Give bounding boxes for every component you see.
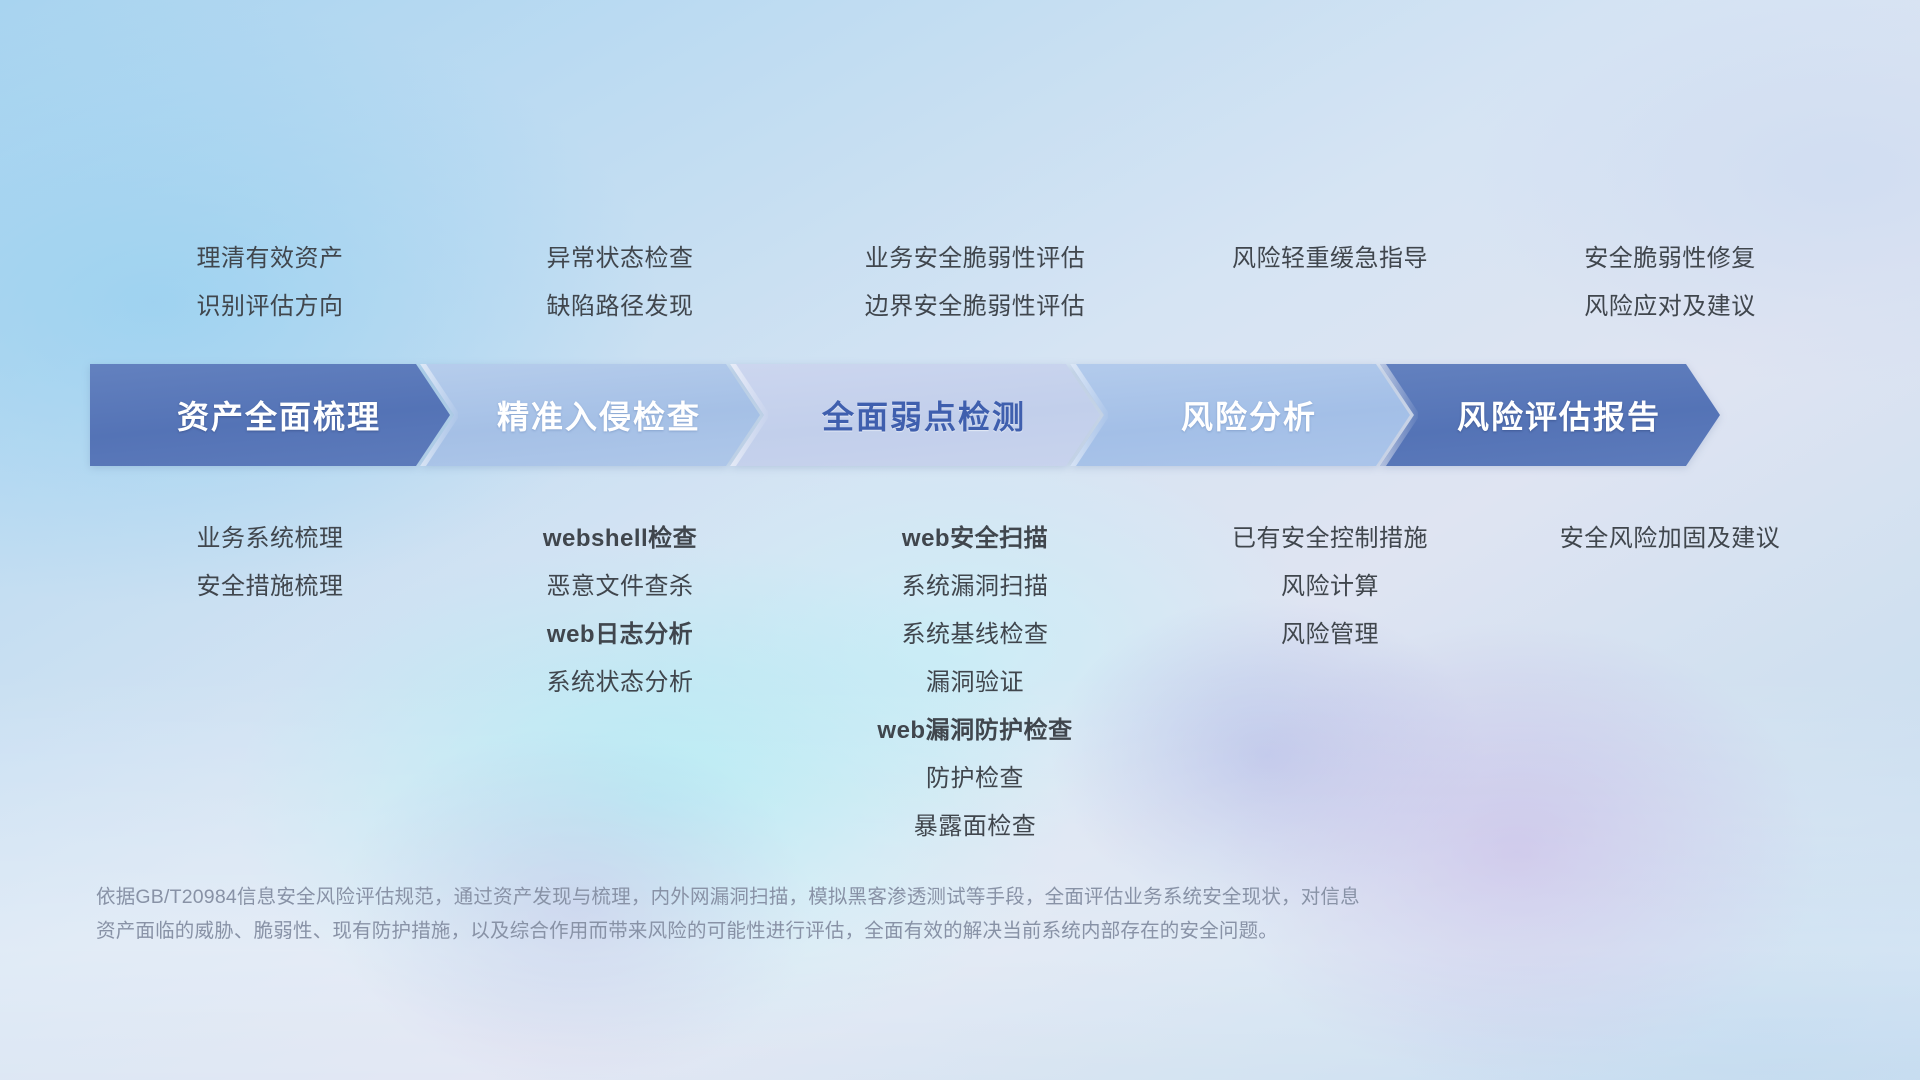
caption-item: 识别评估方向 [197,283,344,331]
caption-item: 系统基线检查 [902,611,1049,659]
chevron-stage-risk-report[interactable]: 风险评估报告 [1380,364,1720,466]
chevron-label: 风险分析 [1163,392,1317,438]
slide-content: 理清有效资产识别评估方向异常状态检查缺陷路径发现业务安全脆弱性评估边界安全脆弱性… [0,0,1920,1080]
caption-item: 已有安全控制措施 [1232,515,1428,563]
caption-item: 安全脆弱性修复 [1584,235,1756,283]
chevron-label: 资产全面梳理 [159,392,381,438]
caption-item: 系统漏洞扫描 [902,563,1049,611]
bottom-captions-risk-report: 安全风险加固及建议 [1500,515,1840,851]
caption-item: 异常状态检查 [547,235,694,283]
chevron-stage-asset-inventory[interactable]: 资产全面梳理 [90,364,450,466]
caption-item: 恶意文件查杀 [547,563,694,611]
bottom-caption-row: 业务系统梳理安全措施梳理webshell检查恶意文件查杀web日志分析系统状态分… [90,515,1860,851]
caption-item: 风险轻重缓急指导 [1232,235,1428,283]
caption-item: 系统状态分析 [547,659,694,707]
process-chevron-banner: 资产全面梳理精准入侵检查全面弱点检测风险分析风险评估报告 [90,364,1840,466]
top-captions-asset-inventory: 理清有效资产识别评估方向 [90,235,450,331]
top-caption-row: 理清有效资产识别评估方向异常状态检查缺陷路径发现业务安全脆弱性评估边界安全脆弱性… [90,235,1860,331]
footer-line-2: 资产面临的威胁、脆弱性、现有防护措施，以及综合作用而带来风险的可能性进行评估，全… [96,914,1656,948]
caption-item: 防护检查 [926,755,1024,803]
chevron-stage-intrusion-check[interactable]: 精准入侵检查 [420,364,760,466]
footer-description: 依据GB/T20984信息安全风险评估规范，通过资产发现与梳理，内外网漏洞扫描，… [96,880,1656,948]
top-captions-risk-report: 安全脆弱性修复风险应对及建议 [1500,235,1840,331]
caption-item: 暴露面检查 [914,803,1037,851]
chevron-stage-weakness-detection[interactable]: 全面弱点检测 [730,364,1100,466]
caption-item: 风险应对及建议 [1584,283,1756,331]
caption-item: web日志分析 [547,611,693,659]
top-captions-intrusion-check: 异常状态检查缺陷路径发现 [450,235,790,331]
caption-item: 边界安全脆弱性评估 [865,283,1086,331]
chevron-label: 全面弱点检测 [804,392,1026,438]
chevron-label: 精准入侵检查 [479,392,701,438]
top-captions-risk-analysis: 风险轻重缓急指导 [1160,235,1500,331]
caption-item: 风险管理 [1281,611,1379,659]
caption-item: 安全风险加固及建议 [1560,515,1781,563]
caption-item: web漏洞防护检查 [877,707,1072,755]
caption-item: 缺陷路径发现 [547,283,694,331]
caption-item: web安全扫描 [902,515,1048,563]
footer-line-1: 依据GB/T20984信息安全风险评估规范，通过资产发现与梳理，内外网漏洞扫描，… [96,880,1656,914]
caption-item: 安全措施梳理 [197,563,344,611]
bottom-captions-risk-analysis: 已有安全控制措施风险计算风险管理 [1160,515,1500,851]
chevron-stage-risk-analysis[interactable]: 风险分析 [1070,364,1410,466]
caption-item: 业务系统梳理 [197,515,344,563]
caption-item: 漏洞验证 [926,659,1024,707]
caption-item: webshell检查 [543,515,697,563]
caption-item: 风险计算 [1281,563,1379,611]
bottom-captions-weakness-detection: web安全扫描系统漏洞扫描系统基线检查漏洞验证web漏洞防护检查防护检查暴露面检… [790,515,1160,851]
slide-canvas: 理清有效资产识别评估方向异常状态检查缺陷路径发现业务安全脆弱性评估边界安全脆弱性… [0,0,1920,1080]
chevron-label: 风险评估报告 [1439,392,1661,438]
caption-item: 理清有效资产 [197,235,344,283]
top-captions-weakness-detection: 业务安全脆弱性评估边界安全脆弱性评估 [790,235,1160,331]
bottom-captions-asset-inventory: 业务系统梳理安全措施梳理 [90,515,450,851]
caption-item: 业务安全脆弱性评估 [865,235,1086,283]
bottom-captions-intrusion-check: webshell检查恶意文件查杀web日志分析系统状态分析 [450,515,790,851]
